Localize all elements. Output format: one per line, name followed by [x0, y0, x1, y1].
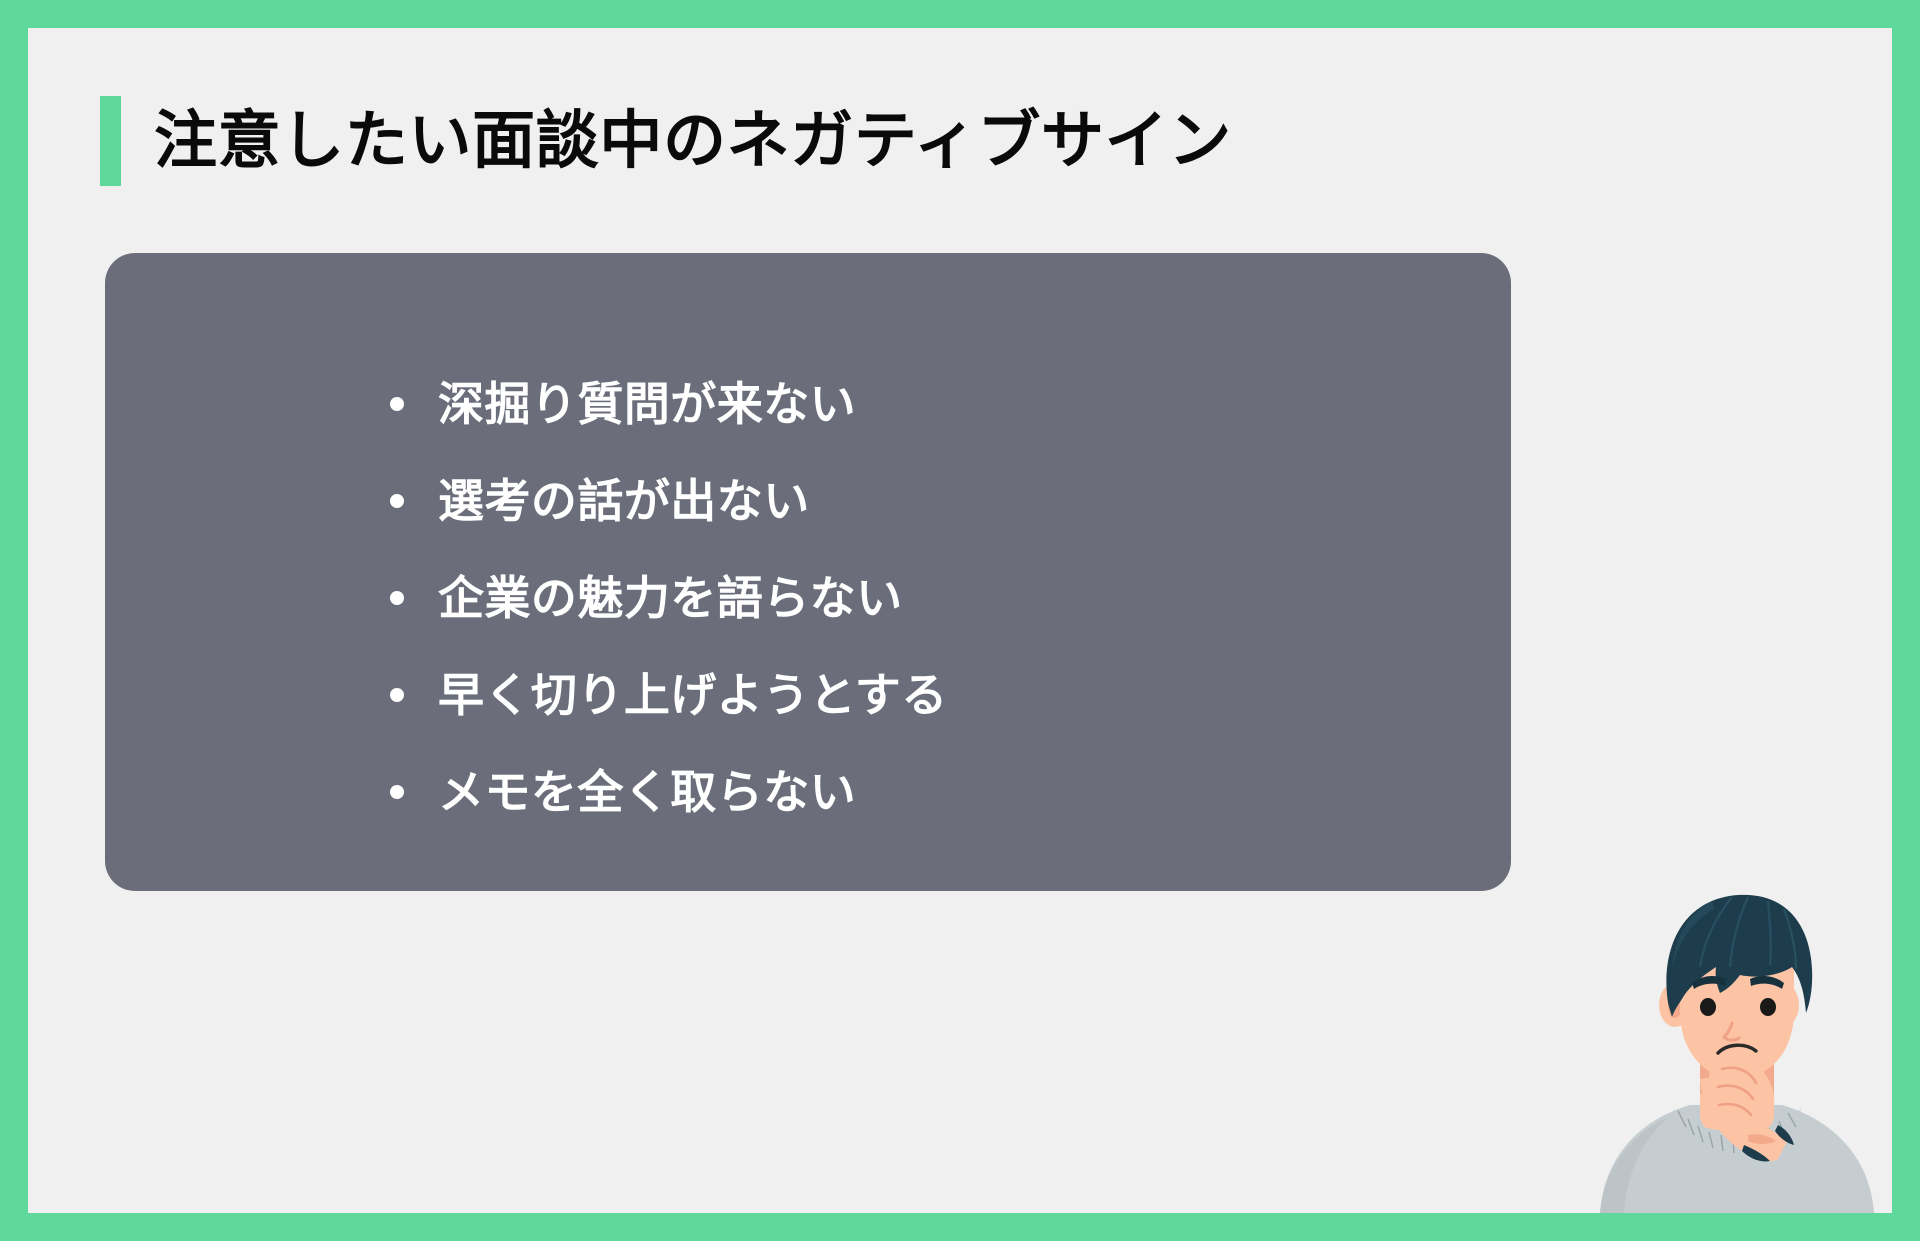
bullet-dot-icon — [390, 785, 404, 799]
negative-signs-list: 深掘り質問が来ない 選考の話が出ない 企業の魅力を語らない 早く切り上げようとす… — [390, 355, 948, 840]
bullet-dot-icon — [390, 397, 404, 411]
bullet-dot-icon — [390, 591, 404, 605]
bullet-dot-icon — [390, 688, 404, 702]
list-item-label: メモを全く取らない — [438, 769, 856, 815]
title-accent-bar — [100, 96, 121, 186]
slide-inner-panel: 注意したい面談中のネガティブサイン 深掘り質問が来ない 選考の話が出ない 企業の… — [28, 28, 1892, 1213]
slide-root: 注意したい面談中のネガティブサイン 深掘り質問が来ない 選考の話が出ない 企業の… — [0, 0, 1920, 1241]
negative-signs-card: 深掘り質問が来ない 選考の話が出ない 企業の魅力を語らない 早く切り上げようとす… — [105, 253, 1511, 891]
list-item: メモを全く取らない — [390, 743, 948, 840]
thinking-person-illustration — [1582, 883, 1892, 1213]
list-item: 企業の魅力を語らない — [390, 549, 948, 646]
bullet-dot-icon — [390, 494, 404, 508]
page-title-row: 注意したい面談中のネガティブサイン — [100, 96, 1232, 186]
list-item: 早く切り上げようとする — [390, 646, 948, 743]
page-title: 注意したい面談中のネガティブサイン — [154, 110, 1232, 173]
list-item-label: 深掘り質問が来ない — [438, 381, 856, 427]
list-item-label: 選考の話が出ない — [438, 478, 810, 524]
list-item: 深掘り質問が来ない — [390, 355, 948, 452]
list-item-label: 企業の魅力を語らない — [438, 575, 903, 621]
list-item: 選考の話が出ない — [390, 452, 948, 549]
list-item-label: 早く切り上げようとする — [438, 672, 948, 718]
